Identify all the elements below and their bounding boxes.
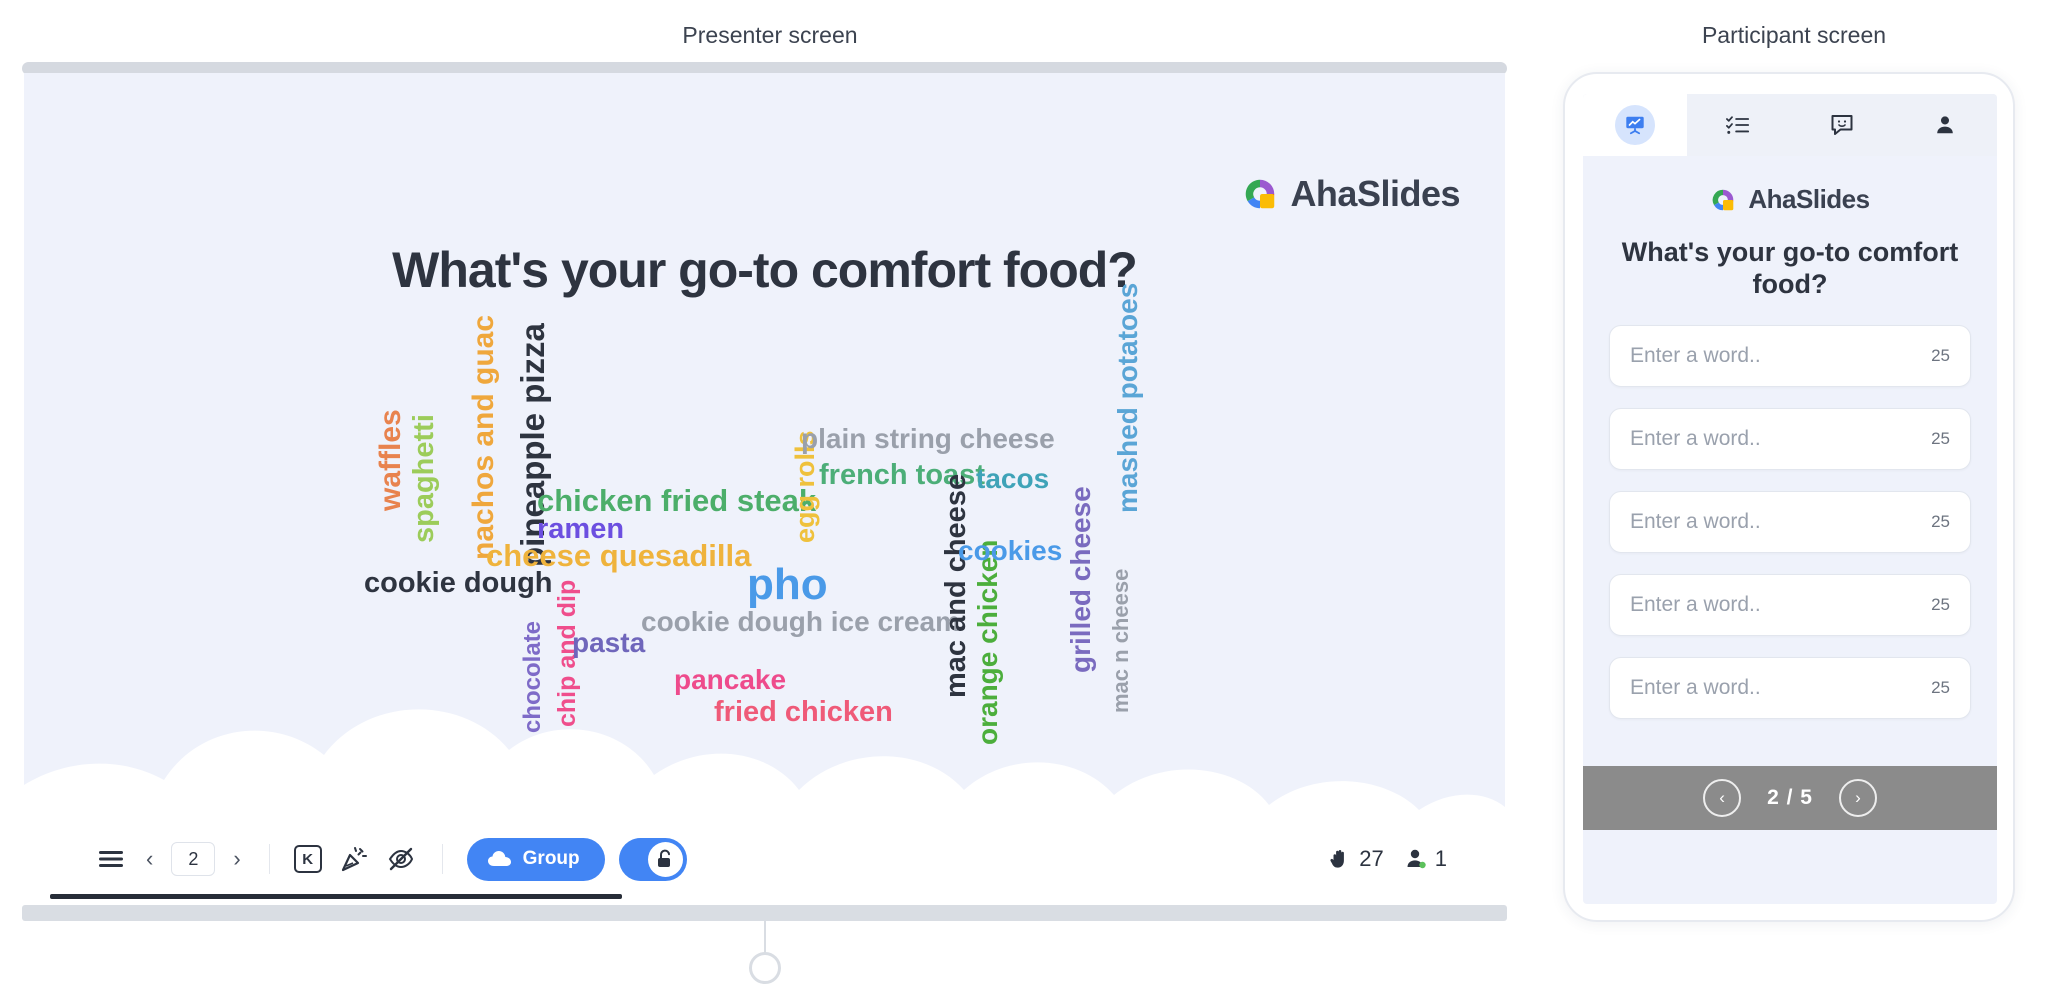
person-icon	[1404, 847, 1428, 871]
lock-toggle-knob	[648, 842, 683, 877]
word-cloud-item: chocolate	[521, 621, 545, 733]
presenter-toolbar: ‹ 2 › K	[24, 813, 1505, 905]
participant-nav-bar: ‹ 2 / 5 ›	[1583, 766, 1997, 830]
tab-checklist[interactable]	[1687, 94, 1791, 156]
participant-device: AhaSlides What's your go-to comfort food…	[1563, 72, 2015, 922]
word-cloud: wafflesspaghettinachos and guacpineapple…	[24, 73, 1505, 905]
word-cloud-item: nachos and guac	[469, 315, 499, 560]
word-cloud-item: spaghetti	[410, 414, 439, 543]
presentation-icon	[1624, 114, 1646, 136]
projector-pull-ring[interactable]	[749, 952, 781, 984]
ahaslides-mark-icon	[1710, 187, 1736, 213]
word-cloud-item: tacos	[976, 465, 1049, 493]
unlock-icon	[656, 849, 674, 869]
word-cloud-item: pancake	[674, 666, 786, 694]
word-cloud-item: waffles	[376, 409, 406, 511]
word-input-row[interactable]: 25	[1609, 408, 1971, 470]
word-cloud-item: orange chicken	[974, 540, 1002, 745]
participant-prev-button[interactable]: ‹	[1703, 779, 1741, 817]
tab-presentation[interactable]	[1583, 94, 1687, 156]
projector-bottom-bar	[22, 905, 1507, 921]
participant-slide-position: 2 / 5	[1767, 786, 1813, 810]
word-cloud-item: plain string cheese	[801, 425, 1055, 453]
word-cloud-item: pasta	[572, 629, 645, 657]
participant-screen-content: AhaSlides What's your go-to comfort food…	[1583, 94, 1997, 904]
presenter-screen-label: Presenter screen	[0, 22, 1540, 49]
word-input-field[interactable]	[1630, 593, 1931, 617]
lock-toggle[interactable]	[619, 838, 687, 881]
word-cloud-item: cookie dough ice cream	[641, 608, 960, 636]
word-cloud-item: mac n cheese	[1110, 569, 1132, 713]
participant-tab-bar	[1583, 94, 1997, 156]
word-input-field[interactable]	[1630, 510, 1931, 534]
word-input-row[interactable]: 25	[1609, 657, 1971, 719]
tab-profile[interactable]	[1894, 94, 1998, 156]
word-input-counter: 25	[1931, 346, 1950, 366]
cloud-icon	[487, 850, 513, 868]
hide-results-icon[interactable]	[384, 842, 418, 876]
page-number-box[interactable]: 2	[171, 842, 215, 876]
group-button[interactable]: Group	[467, 838, 605, 881]
participant-question: What's your go-to comfort food?	[1609, 237, 1971, 301]
word-input-list: 2525252525	[1583, 325, 1997, 719]
word-cloud-item: pho	[747, 563, 828, 607]
word-input-counter: 25	[1931, 429, 1950, 449]
toolbar-divider	[269, 844, 270, 874]
word-input-field[interactable]	[1630, 427, 1931, 451]
tab-chat[interactable]	[1790, 94, 1894, 156]
confetti-glyph	[339, 845, 367, 873]
presenter-screen: AhaSlides What's your go-to comfort food…	[0, 62, 1540, 942]
raised-hand-count-value: 27	[1359, 846, 1383, 872]
word-input-row[interactable]: 25	[1609, 574, 1971, 636]
slide-progress-fill	[50, 894, 622, 899]
tab-presentation-badge	[1615, 105, 1655, 145]
word-cloud-item: cookies	[958, 537, 1062, 565]
participant-count-value: 1	[1435, 846, 1447, 872]
word-input-row[interactable]: 25	[1609, 491, 1971, 553]
word-input-field[interactable]	[1630, 676, 1931, 700]
word-cloud-item: mashed potatoes	[1114, 283, 1142, 513]
checklist-icon	[1726, 114, 1750, 136]
person-icon	[1934, 114, 1956, 136]
participant-count: 1	[1404, 846, 1447, 872]
hamburger-icon	[98, 849, 124, 869]
participant-ahaslides-logo: AhaSlides	[1710, 184, 1869, 215]
ahaslides-wordmark: AhaSlides	[1748, 184, 1869, 215]
word-input-row[interactable]: 25	[1609, 325, 1971, 387]
presentation-slide: AhaSlides What's your go-to comfort food…	[24, 73, 1505, 905]
word-input-counter: 25	[1931, 512, 1950, 532]
participant-screen-label: Participant screen	[1540, 22, 2048, 49]
word-cloud-item: mac and cheese	[942, 474, 971, 698]
slide-progress-bar	[50, 894, 1480, 899]
word-cloud-item: fried chicken	[714, 698, 893, 727]
raised-hand-icon	[1328, 847, 1352, 871]
word-input-counter: 25	[1931, 678, 1950, 698]
raised-hand-count: 27	[1328, 846, 1383, 872]
word-input-counter: 25	[1931, 595, 1950, 615]
eye-off-icon	[387, 845, 415, 873]
hamburger-menu-icon[interactable]	[94, 842, 128, 876]
word-cloud-item: grilled cheese	[1067, 486, 1095, 673]
next-slide-button[interactable]: ›	[229, 846, 244, 872]
toolbar-divider-2	[442, 844, 443, 874]
word-input-field[interactable]	[1630, 344, 1931, 368]
word-cloud-item: cookie dough	[364, 569, 553, 598]
prev-slide-button[interactable]: ‹	[142, 846, 157, 872]
participant-next-button[interactable]: ›	[1839, 779, 1877, 817]
confetti-icon[interactable]	[336, 842, 370, 876]
chat-smiley-icon	[1830, 113, 1854, 137]
word-cloud-item: chicken fried steak	[537, 485, 816, 516]
group-button-label: Group	[523, 848, 580, 870]
keyboard-shortcut-button[interactable]: K	[294, 845, 322, 873]
